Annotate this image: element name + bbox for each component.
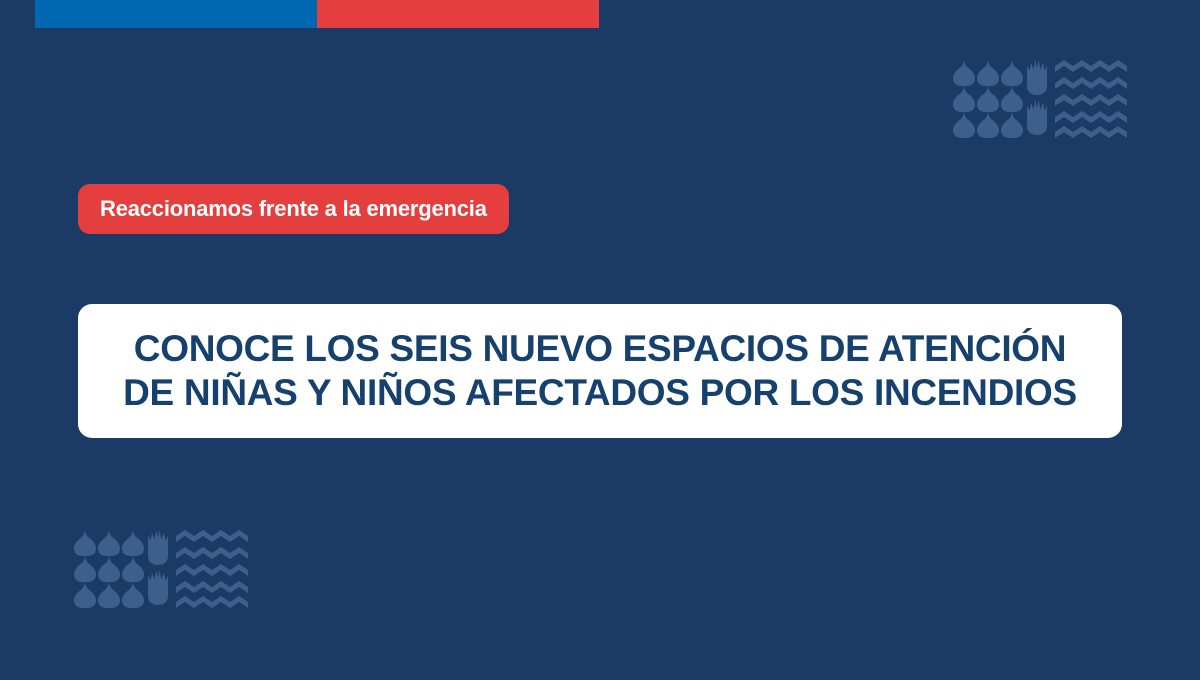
headline-card: CONOCE LOS SEIS NUEVO ESPACIOS DE ATENCI… [78, 304, 1122, 438]
onion-drop-motif [953, 60, 1023, 138]
headline-line-1: CONOCE LOS SEIS NUEVO ESPACIOS DE ATENCI… [134, 327, 1066, 371]
decorative-pattern-top-right [951, 58, 1131, 138]
flag-stripe-blue [35, 0, 317, 28]
flag-stripe-red [317, 0, 599, 28]
headline-line-2: DE NIÑAS Y NIÑOS AFECTADOS POR LOS INCEN… [123, 371, 1077, 415]
tulip-motif [148, 530, 168, 605]
flag-bar [35, 0, 599, 28]
decorative-pattern-bottom-left [72, 528, 252, 608]
tagline-badge: Reaccionamos frente a la emergencia [78, 184, 509, 234]
tagline-label: Reaccionamos frente a la emergencia [100, 196, 487, 222]
onion-drop-motif [74, 530, 144, 608]
zigzag-wave-motif [176, 530, 248, 608]
tulip-motif [1027, 60, 1047, 135]
zigzag-wave-motif [1055, 60, 1127, 138]
